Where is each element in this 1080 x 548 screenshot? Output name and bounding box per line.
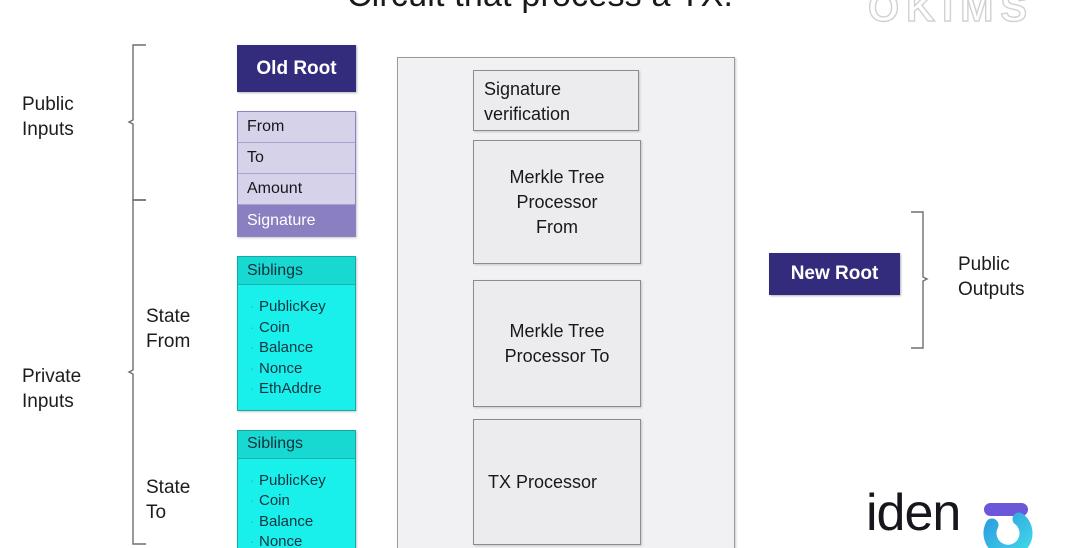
- state-from-siblings-group: Siblings · PublicKey · Coin · Balance · …: [237, 256, 356, 411]
- list-item-label: Coin: [259, 318, 290, 339]
- state-to-siblings-list: · PublicKey · Coin · Balance · Nonce ·: [238, 459, 355, 548]
- bullet-icon: ·: [250, 338, 259, 359]
- bullet-icon: ·: [250, 532, 259, 548]
- tx-field-from-label: From: [247, 118, 284, 136]
- list-item: · Coin: [238, 491, 355, 512]
- bullet-icon: ·: [250, 512, 259, 533]
- bullet-icon: ·: [250, 491, 259, 512]
- okims-watermark: OKIMS: [868, 0, 1034, 31]
- iden3-digit-icon: [972, 485, 1042, 548]
- list-item: · PublicKey: [238, 471, 355, 492]
- label-state-to: State To: [146, 475, 190, 525]
- circuit-box-merkle-tree-processor-to[interactable]: Merkle Tree Processor To: [473, 280, 641, 407]
- circuit-box-signature-verification[interactable]: Signature verification: [473, 70, 639, 131]
- list-item: · Balance: [238, 338, 355, 359]
- tx-field-to-label: To: [247, 149, 264, 167]
- tx-field-to[interactable]: To: [238, 143, 355, 174]
- circuit-box-tx-processor-label: TX Processor: [488, 470, 597, 495]
- list-item-label: Coin: [259, 491, 290, 512]
- public-outputs-brace: [906, 208, 946, 354]
- circuit-box-merkle-tree-processor-to-label: Merkle Tree Processor To: [505, 319, 610, 369]
- circuit-box-merkle-tree-processor-from-label: Merkle Tree Processor From: [509, 165, 604, 240]
- iden3-wordmark: iden: [866, 483, 960, 543]
- bullet-icon: ·: [250, 297, 259, 318]
- public-inputs-brace: [128, 40, 168, 210]
- slide-canvas: Circuit that process a TX. OKIMS Public …: [0, 0, 1080, 548]
- new-root-box[interactable]: New Root: [769, 253, 900, 295]
- list-item-label: Balance: [259, 338, 313, 359]
- bullet-icon: ·: [250, 359, 259, 380]
- list-item: · Coin: [238, 318, 355, 339]
- state-to-siblings-header[interactable]: Siblings: [238, 431, 355, 459]
- list-item-label: Nonce: [259, 532, 302, 548]
- old-root-label: Old Root: [256, 58, 336, 80]
- label-public-inputs: Public Inputs: [22, 92, 74, 142]
- list-item: · Nonce: [238, 532, 355, 548]
- list-item-label: Nonce: [259, 359, 302, 380]
- list-item-label: Balance: [259, 512, 313, 533]
- state-from-siblings-header-label: Siblings: [247, 262, 303, 280]
- circuit-box-tx-processor[interactable]: TX Processor: [473, 419, 641, 545]
- bullet-icon: ·: [250, 379, 259, 400]
- circuit-box-merkle-tree-processor-from[interactable]: Merkle Tree Processor From: [473, 140, 641, 264]
- circuit-box-signature-verification-label: Signature verification: [484, 77, 570, 127]
- tx-fields-group: From To Amount Signature: [237, 111, 356, 237]
- label-private-inputs: Private Inputs: [22, 364, 81, 414]
- label-state-from: State From: [146, 304, 190, 354]
- list-item-label: PublicKey: [259, 471, 326, 492]
- list-item: · PublicKey: [238, 297, 355, 318]
- old-root-box[interactable]: Old Root: [237, 45, 356, 92]
- list-item-label: PublicKey: [259, 297, 326, 318]
- inputs-column: Old Root From To Amount Signature Siblin…: [237, 45, 356, 548]
- tx-field-from[interactable]: From: [238, 112, 355, 143]
- label-public-outputs: Public Outputs: [958, 252, 1025, 302]
- list-item-label: EthAddre: [259, 379, 322, 400]
- state-to-siblings-group: Siblings · PublicKey · Coin · Balance · …: [237, 430, 356, 548]
- iden3-logo: iden: [866, 483, 1066, 548]
- tx-field-amount-label: Amount: [247, 180, 302, 198]
- bullet-icon: ·: [250, 471, 259, 492]
- list-item: · Balance: [238, 512, 355, 533]
- new-root-label: New Root: [791, 263, 879, 285]
- state-to-siblings-header-label: Siblings: [247, 435, 303, 453]
- tx-field-signature-label: Signature: [247, 212, 316, 230]
- state-from-siblings-list: · PublicKey · Coin · Balance · Nonce ·: [238, 285, 355, 410]
- bullet-icon: ·: [250, 318, 259, 339]
- state-from-siblings-header[interactable]: Siblings: [238, 257, 355, 285]
- list-item: · Nonce: [238, 359, 355, 380]
- tx-field-amount[interactable]: Amount: [238, 174, 355, 205]
- circuit-panel: Signature verification Merkle Tree Proce…: [397, 57, 735, 548]
- list-item: · EthAddre: [238, 379, 355, 400]
- tx-field-signature[interactable]: Signature: [238, 205, 355, 236]
